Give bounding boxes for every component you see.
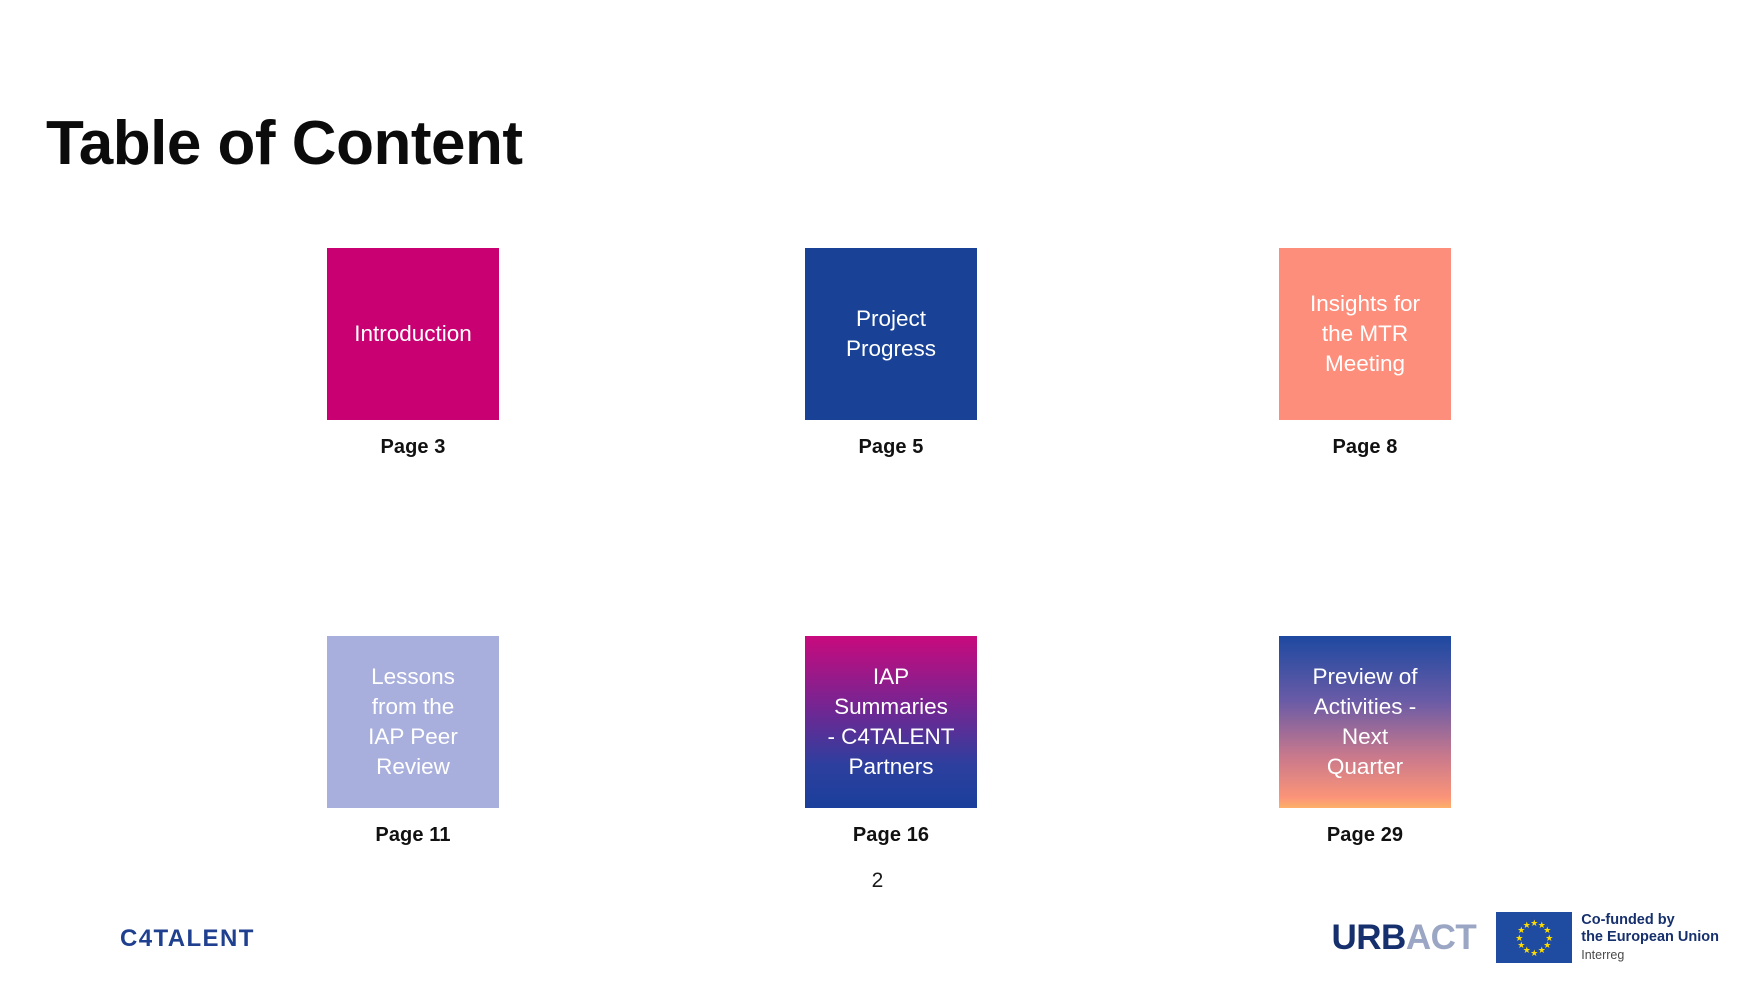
- eu-interreg-label: Interreg: [1581, 948, 1719, 963]
- toc-card-label: Lessons from the IAP Peer Review: [368, 662, 458, 782]
- toc-entry-lessons-iap-peer-review[interactable]: Lessons from the IAP Peer Review Page 11: [283, 636, 543, 847]
- toc-card-label: Preview of Activities - Next Quarter: [1312, 662, 1417, 782]
- toc-card-label: Introduction: [354, 319, 472, 349]
- card-row-2: Lessons from the IAP Peer Review Page 11…: [0, 636, 1755, 956]
- c4talent-logo: C4TALENT: [120, 925, 255, 953]
- toc-page-label: Page 11: [283, 824, 543, 847]
- toc-page-label: Page 8: [1235, 436, 1495, 459]
- toc-card-label: IAP Summaries - C4TALENT Partners: [827, 662, 954, 782]
- toc-page-label: Page 3: [283, 436, 543, 459]
- eu-funding-text: Co-funded by the European Union Interreg: [1581, 912, 1719, 963]
- eu-star-icon: ★: [1538, 946, 1546, 954]
- toc-page-label: Page 29: [1235, 824, 1495, 847]
- toc-page-label: Page 5: [761, 436, 1021, 459]
- toc-card-lessons-iap-peer-review[interactable]: Lessons from the IAP Peer Review: [327, 636, 499, 808]
- eu-star-icon: ★: [1523, 921, 1531, 929]
- toc-card-label: Project Progress: [846, 304, 936, 364]
- footer-logos: URBACT ★★★★★★★★★★★★ Co-funded by the Eur…: [1331, 912, 1719, 963]
- slide-canvas: Table of Content Introduction Page 3 Pro…: [0, 0, 1755, 991]
- slide-number: 2: [0, 869, 1755, 893]
- toc-entry-project-progress[interactable]: Project Progress Page 5: [761, 248, 1021, 459]
- urbact-logo-part2: ACT: [1406, 920, 1476, 955]
- toc-card-insights-mtr-meeting[interactable]: Insights for the MTR Meeting: [1279, 248, 1451, 420]
- eu-star-icon: ★: [1530, 949, 1538, 957]
- eu-funding-line1: Co-funded by: [1581, 912, 1719, 929]
- urbact-logo: URBACT: [1331, 920, 1476, 955]
- toc-card-preview-activities-next-quarter[interactable]: Preview of Activities - Next Quarter: [1279, 636, 1451, 808]
- toc-entry-preview-activities-next-quarter[interactable]: Preview of Activities - Next Quarter Pag…: [1235, 636, 1495, 847]
- content-card-grid: Introduction Page 3 Project Progress Pag…: [0, 248, 1755, 956]
- toc-page-label: Page 16: [761, 824, 1021, 847]
- toc-card-introduction[interactable]: Introduction: [327, 248, 499, 420]
- urbact-logo-part1: URB: [1331, 920, 1405, 955]
- eu-funding-logo: ★★★★★★★★★★★★ Co-funded by the European U…: [1496, 912, 1719, 963]
- toc-entry-insights-mtr-meeting[interactable]: Insights for the MTR Meeting Page 8: [1235, 248, 1495, 459]
- page-title: Table of Content: [46, 110, 522, 178]
- toc-entry-introduction[interactable]: Introduction Page 3: [283, 248, 543, 459]
- card-row-1: Introduction Page 3 Project Progress Pag…: [0, 248, 1755, 568]
- toc-card-label: Insights for the MTR Meeting: [1310, 289, 1420, 379]
- toc-card-project-progress[interactable]: Project Progress: [805, 248, 977, 420]
- toc-entry-iap-summaries-partners[interactable]: IAP Summaries - C4TALENT Partners Page 1…: [761, 636, 1021, 847]
- eu-flag-icon: ★★★★★★★★★★★★: [1496, 912, 1572, 963]
- toc-card-iap-summaries-partners[interactable]: IAP Summaries - C4TALENT Partners: [805, 636, 977, 808]
- eu-funding-line2: the European Union: [1581, 929, 1719, 946]
